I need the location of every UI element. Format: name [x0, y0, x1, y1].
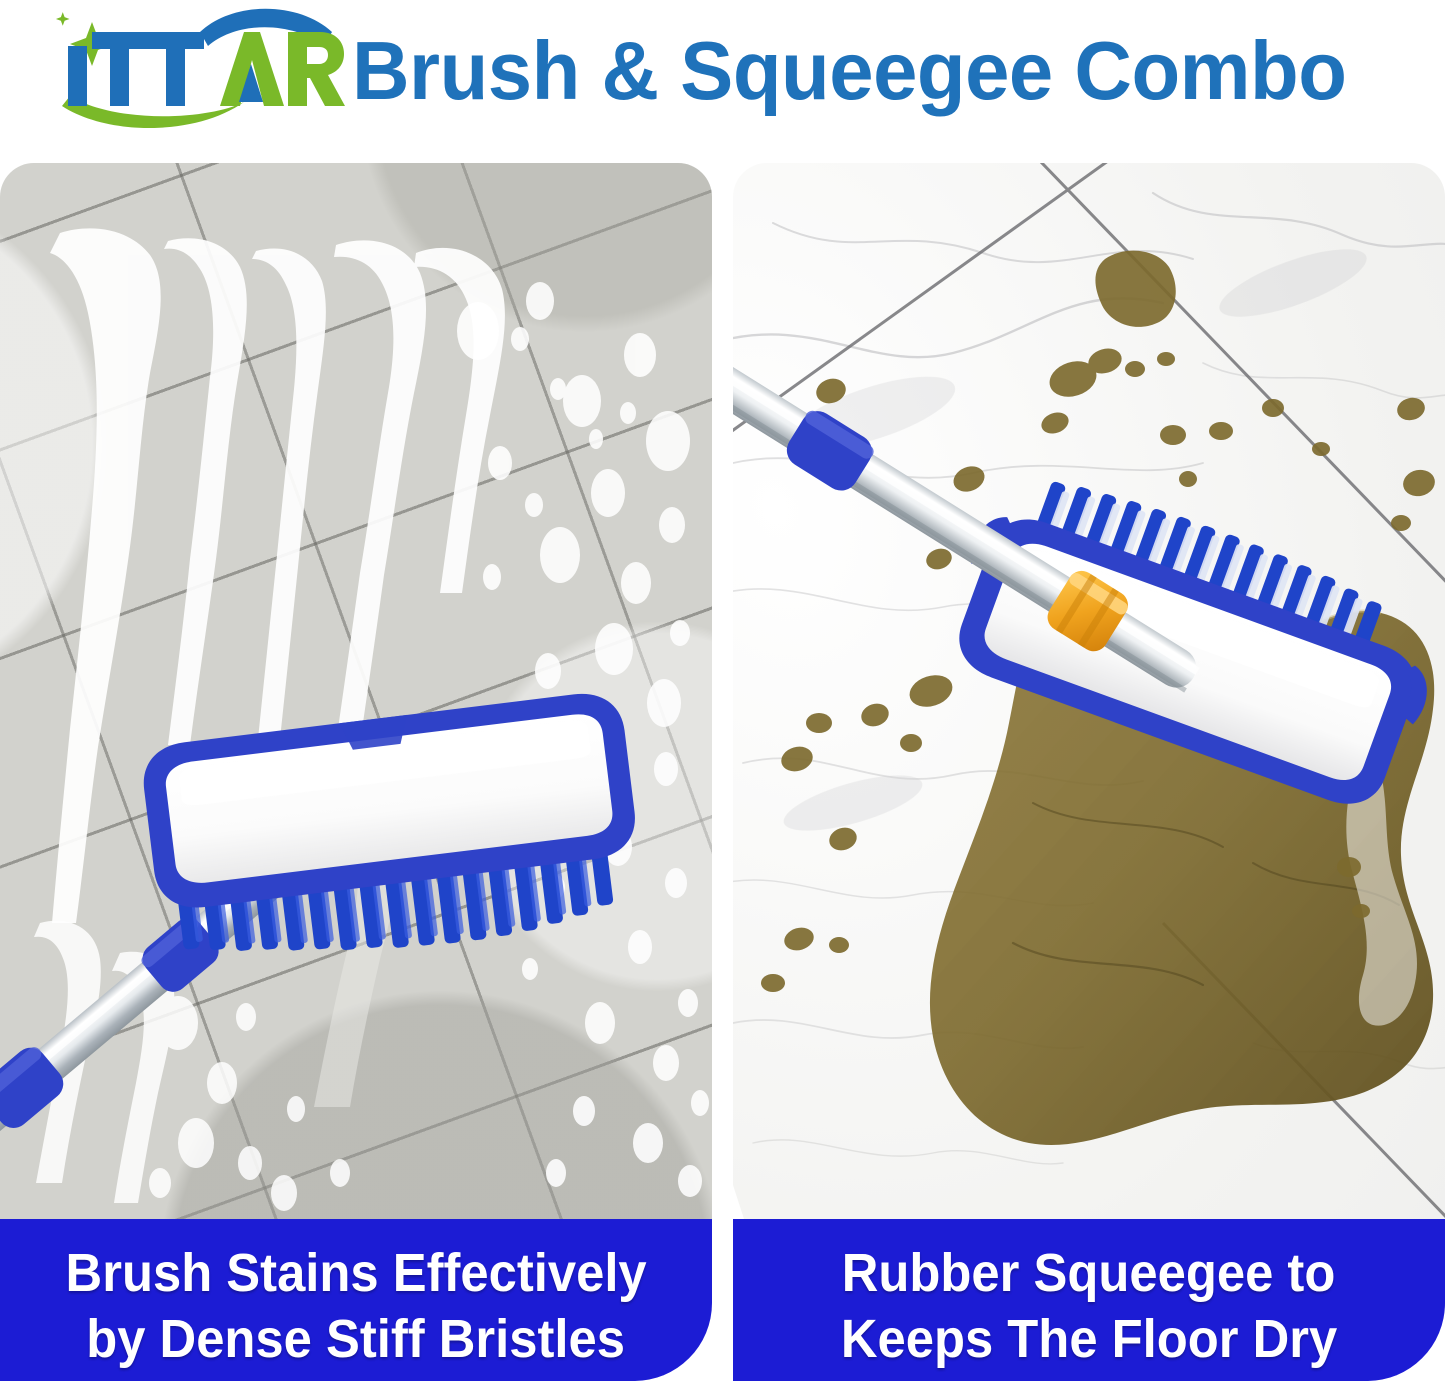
header: Brush & Squeegee Combo [0, 0, 1445, 142]
caption-line-1: Rubber Squeegee to [842, 1240, 1336, 1306]
panel-right: Rubber Squeegee to Keeps The Floor Dry [733, 163, 1445, 1381]
caption-banner-right: Rubber Squeegee to Keeps The Floor Dry [733, 1219, 1445, 1381]
photo-squeegee-on-marble [733, 163, 1445, 1219]
brand-logo [48, 2, 348, 134]
panels-container: Brush Stains Effectively by Dense Stiff … [0, 163, 1445, 1381]
page-title: Brush & Squeegee Combo [352, 16, 1394, 126]
product-marketing-image: Brush & Squeegee Combo [0, 0, 1445, 1381]
photo-brush-on-soapy-tile [0, 163, 712, 1219]
caption-line-1: Brush Stains Effectively [65, 1240, 646, 1306]
caption-line-2: Keeps The Floor Dry [841, 1306, 1337, 1372]
green-swoosh-icon [62, 96, 244, 128]
caption-banner-left: Brush Stains Effectively by Dense Stiff … [0, 1219, 712, 1381]
caption-line-2: by Dense Stiff Bristles [87, 1306, 626, 1372]
liquid-spill [733, 163, 1445, 1219]
panel-left: Brush Stains Effectively by Dense Stiff … [0, 163, 712, 1381]
